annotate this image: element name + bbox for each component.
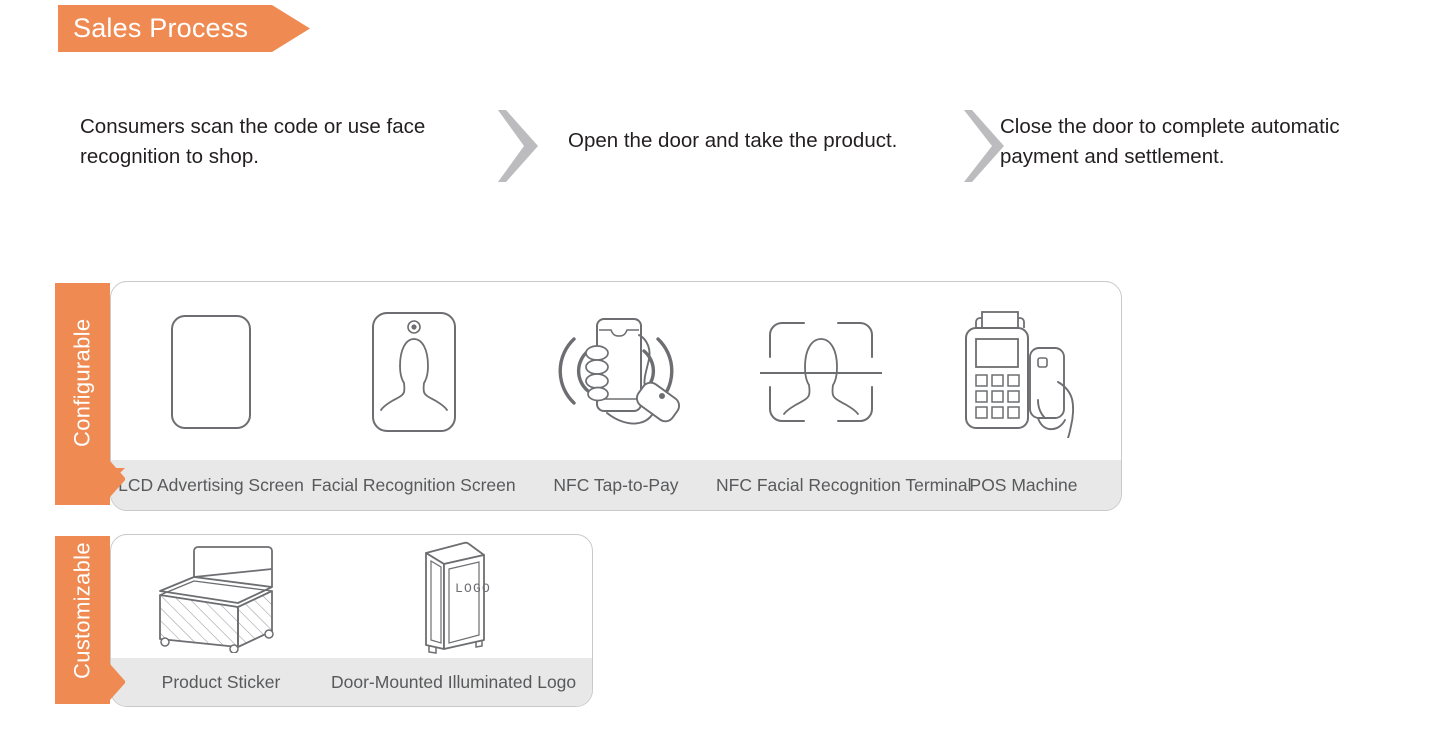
caption-door-mounted-illuminated-logo: Door-Mounted Illuminated Logo [331, 672, 574, 693]
lcd-screen-icon [169, 313, 253, 431]
configurable-panel: LCD Advertising Screen Facial Recognitio… [110, 281, 1122, 511]
customizable-icon-row: LOGO [111, 535, 592, 660]
facial-recognition-screen-icon [370, 310, 458, 434]
logo-placeholder-text: LOGO [455, 581, 491, 596]
face-scan-terminal-icon [758, 313, 884, 431]
item-pos-machine[interactable] [926, 306, 1121, 438]
item-product-sticker[interactable] [111, 543, 331, 653]
page-title: Sales Process [58, 13, 248, 44]
item-nfc-tap-to-pay[interactable] [516, 311, 716, 433]
process-step-3: Close the door to complete automatic pay… [1000, 112, 1420, 172]
process-step-1: Consumers scan the code or use face reco… [80, 112, 500, 172]
caption-product-sticker: Product Sticker [111, 672, 331, 693]
item-door-mounted-illuminated-logo[interactable]: LOGO [331, 537, 574, 659]
item-lcd-advertising-screen[interactable] [111, 313, 311, 431]
configurable-caption-bar: LCD Advertising Screen Facial Recognitio… [111, 460, 1121, 510]
logo-cabinet-icon: LOGO [398, 537, 508, 659]
configurable-icon-row [111, 282, 1121, 462]
tab-label-customizable: Customizable [55, 536, 110, 686]
tab-configurable[interactable]: Configurable [55, 283, 125, 505]
sales-process-flow: Consumers scan the code or use face reco… [60, 104, 1440, 188]
pos-machine-icon [954, 306, 1094, 438]
customizable-panel: LOGO Product Sticker Door-Mounted Illumi… [110, 534, 593, 707]
process-step-2: Open the door and take the product. [568, 126, 968, 156]
section-title-banner: Sales Process [58, 5, 310, 52]
slide-canvas: Sales Process Consumers scan the code or… [0, 0, 1455, 732]
item-facial-recognition-screen[interactable] [311, 310, 516, 434]
caption-facial-recognition-screen: Facial Recognition Screen [311, 475, 516, 496]
tab-customizable[interactable]: Customizable [55, 536, 125, 704]
freezer-sticker-icon [146, 543, 296, 653]
caption-nfc-facial-recognition-terminal: NFC Facial Recognition Terminal [716, 475, 926, 496]
caption-pos-machine: POS Machine [926, 475, 1121, 496]
caption-nfc-tap-to-pay: NFC Tap-to-Pay [516, 475, 716, 496]
nfc-phone-tap-icon [541, 311, 691, 433]
chevron-right-icon [494, 108, 540, 184]
caption-lcd-advertising-screen: LCD Advertising Screen [111, 475, 311, 496]
tab-label-configurable: Configurable [55, 283, 110, 483]
item-nfc-facial-recognition-terminal[interactable] [716, 313, 926, 431]
customizable-caption-bar: Product Sticker Door-Mounted Illuminated… [111, 658, 592, 706]
